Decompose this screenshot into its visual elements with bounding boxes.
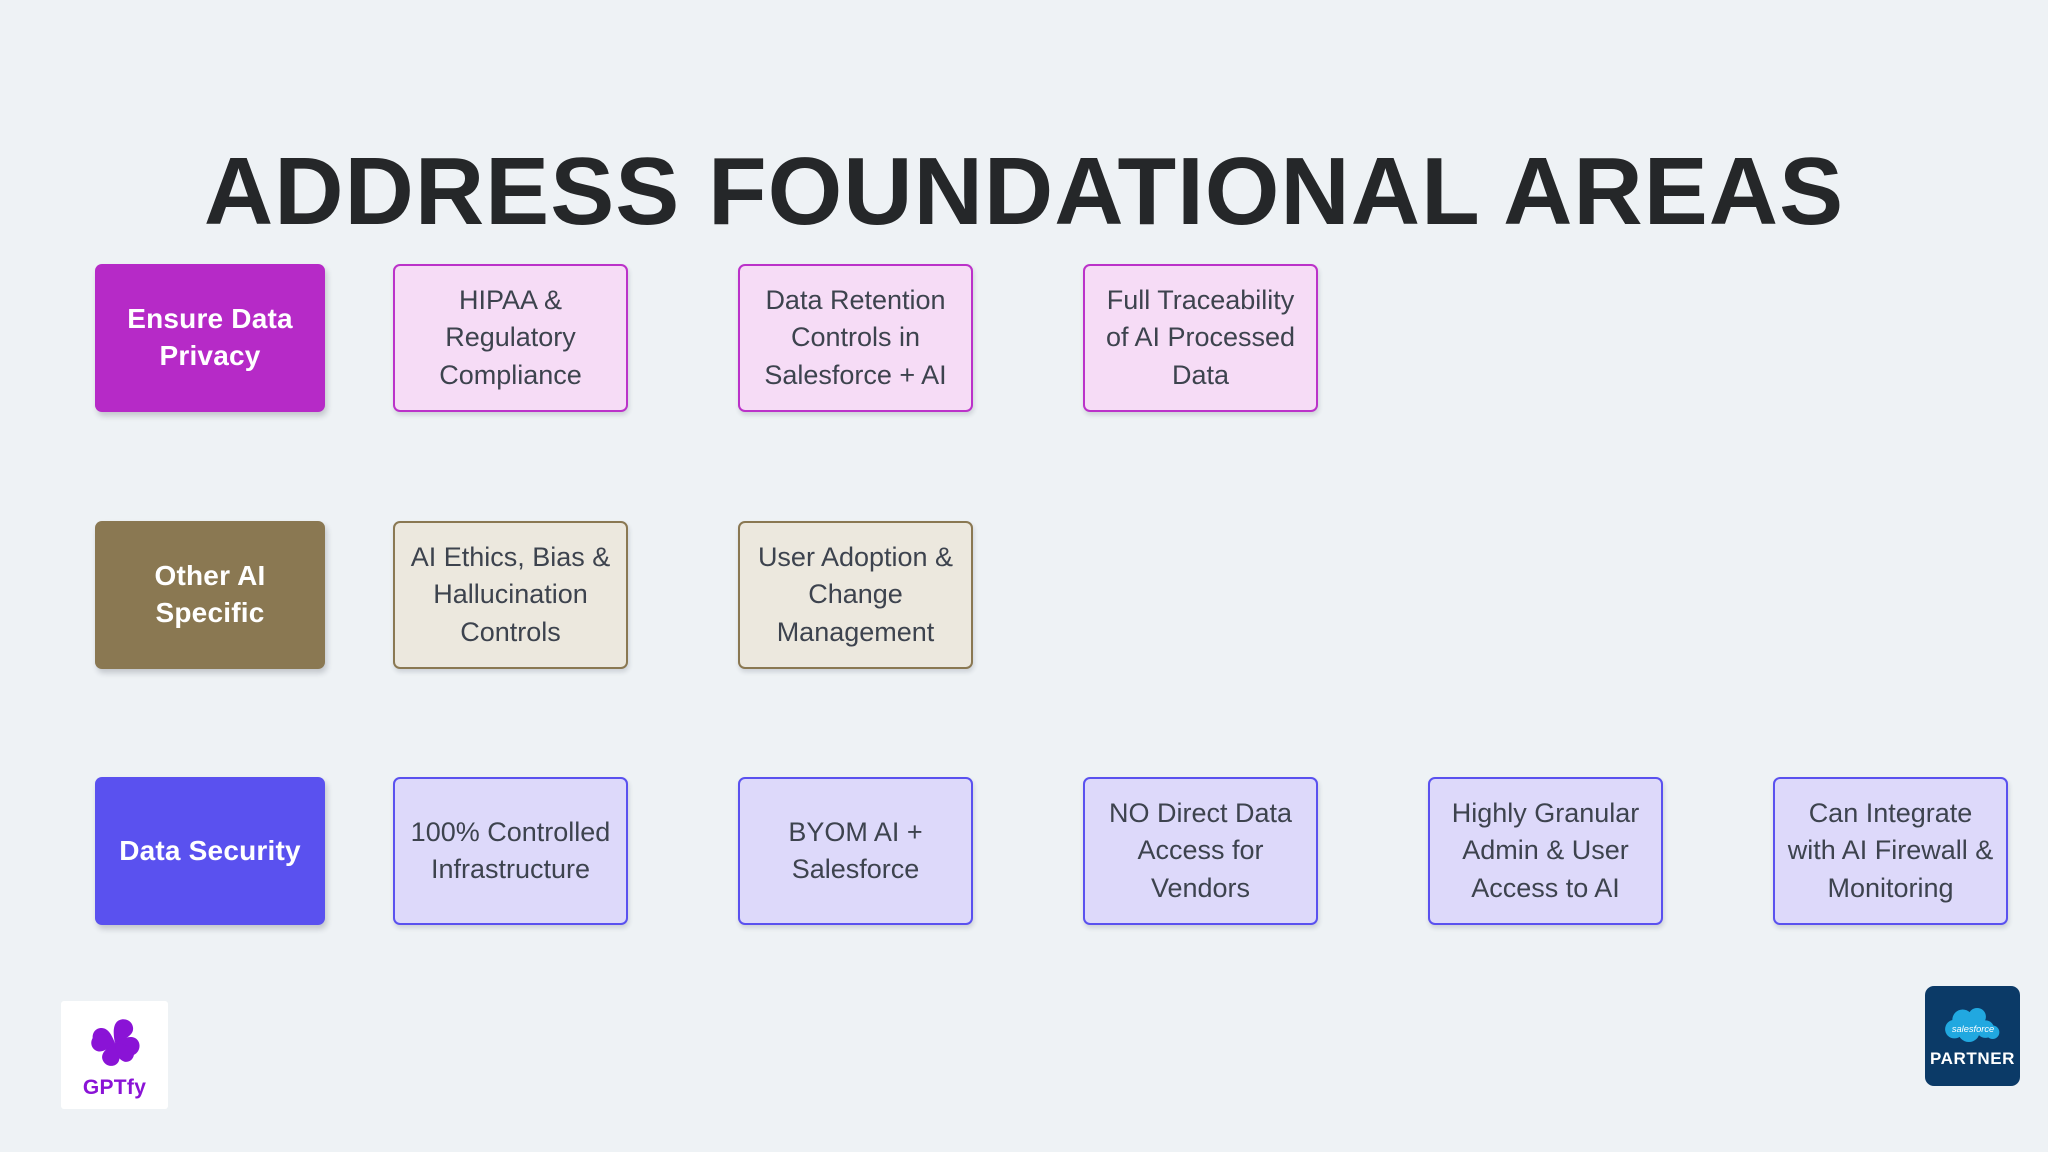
salesforce-partner-tier: PARTNER xyxy=(1930,1049,2015,1069)
slide-canvas: ADDRESS FOUNDATIONAL AREAS Ensure Data P… xyxy=(0,0,2048,1152)
category-row-data-security: Data Security100% Controlled Infrastruct… xyxy=(95,777,2008,925)
svg-text:salesforce: salesforce xyxy=(1951,1024,1993,1034)
category-box[interactable]: Ensure Data Privacy xyxy=(95,264,325,412)
item-box[interactable]: Can Integrate with AI Firewall & Monitor… xyxy=(1773,777,2008,925)
page-title: ADDRESS FOUNDATIONAL AREAS xyxy=(0,142,2048,243)
item-box[interactable]: Highly Granular Admin & User Access to A… xyxy=(1428,777,1663,925)
item-box[interactable]: Full Traceability of AI Processed Data xyxy=(1083,264,1318,412)
gptfy-logo: GPTfy xyxy=(61,1001,168,1109)
item-box[interactable]: Data Retention Controls in Salesforce + … xyxy=(738,264,973,412)
item-box[interactable]: BYOM AI + Salesforce xyxy=(738,777,973,925)
item-box[interactable]: AI Ethics, Bias & Hallucination Controls xyxy=(393,521,628,669)
gptfy-wordmark: GPTfy xyxy=(83,1076,146,1100)
item-box[interactable]: User Adoption & Change Management xyxy=(738,521,973,669)
category-box[interactable]: Other AI Specific xyxy=(95,521,325,669)
salesforce-cloud-icon: salesforce xyxy=(1942,1005,2004,1045)
category-box[interactable]: Data Security xyxy=(95,777,325,925)
category-row-other-ai-specific: Other AI SpecificAI Ethics, Bias & Hallu… xyxy=(95,521,973,669)
item-box[interactable]: 100% Controlled Infrastructure xyxy=(393,777,628,925)
category-row-ensure-data-privacy: Ensure Data PrivacyHIPAA & Regulatory Co… xyxy=(95,264,1318,412)
item-box[interactable]: NO Direct Data Access for Vendors xyxy=(1083,777,1318,925)
salesforce-partner-badge: salesforce PARTNER xyxy=(1925,986,2020,1086)
item-box[interactable]: HIPAA & Regulatory Compliance xyxy=(393,264,628,412)
gptfy-pinwheel-icon xyxy=(85,1013,145,1073)
